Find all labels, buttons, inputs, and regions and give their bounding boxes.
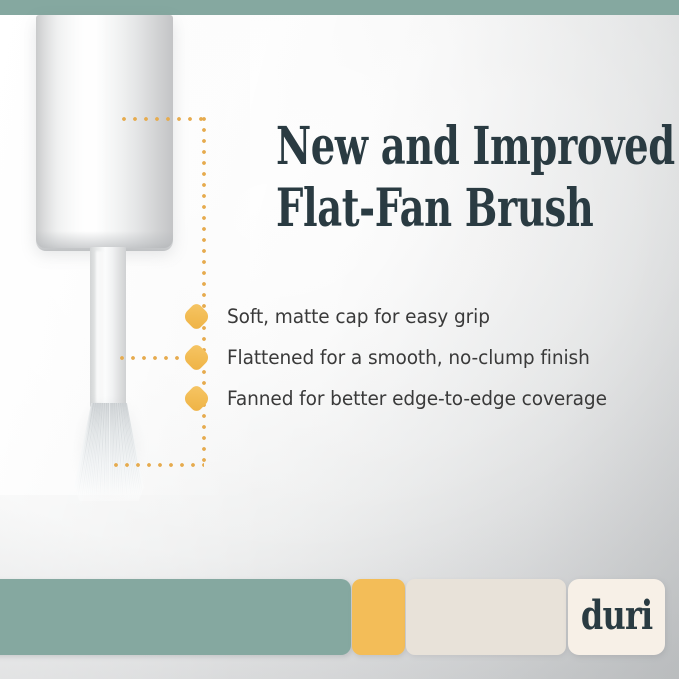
list-item: Soft, matte cap for easy grip [186, 296, 656, 337]
brand-logo-card: duri [568, 579, 665, 655]
list-item: Flattened for a smooth, no-clump finish [186, 337, 656, 378]
brand-logo-text: duri [581, 596, 652, 638]
bottom-color-bar: duri [0, 579, 679, 655]
ad-banner-canvas: New and Improved Flat-Fan Brush Soft, ma… [0, 0, 679, 679]
leader-line-cap-horizontal [122, 117, 206, 121]
top-accent-strip [0, 0, 679, 15]
product-photo [0, 15, 260, 505]
list-item-label: Flattened for a smooth, no-clump finish [227, 346, 590, 369]
bar-segment-orange [352, 579, 405, 655]
leader-line-bristles-horizontal [114, 463, 204, 467]
list-item-label: Fanned for better edge-to-edge coverage [227, 387, 607, 410]
diamond-bullet-icon [182, 302, 212, 332]
headline-line-1: New and Improved [276, 116, 675, 177]
list-item-label: Soft, matte cap for easy grip [227, 305, 490, 328]
diamond-bullet-icon [182, 343, 212, 373]
brush-bristles [72, 403, 146, 501]
brush-stem-highlight [96, 251, 106, 403]
page-title: New and Improved Flat-Fan Brush [276, 116, 668, 240]
bar-segment-beige [406, 579, 566, 655]
bottle-cap-highlight [36, 15, 173, 248]
headline-line-2: Flat-Fan Brush [276, 178, 668, 240]
list-item: Fanned for better edge-to-edge coverage [186, 378, 656, 419]
feature-list: Soft, matte cap for easy grip Flattened … [186, 296, 656, 419]
bar-segment-teal [0, 579, 351, 655]
diamond-bullet-icon [182, 384, 212, 414]
